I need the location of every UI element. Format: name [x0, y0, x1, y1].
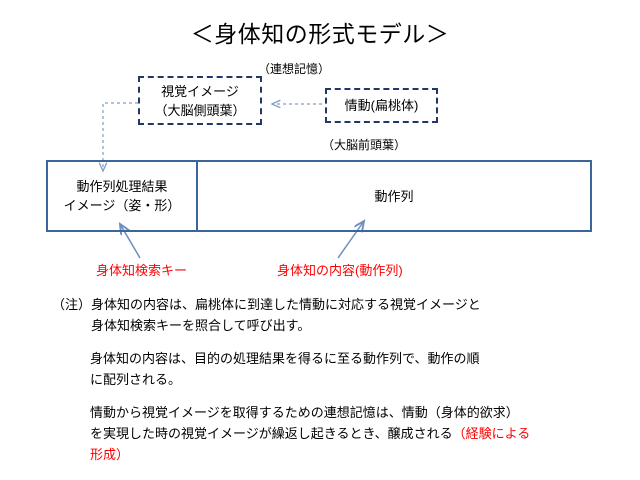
box-emotion-amygdala[interactable]: 情動(扁桃体)	[325, 88, 438, 123]
note-p3-line2-black: を実現した時の視覚イメージが繰返し起きるとき、醸成される	[90, 426, 453, 441]
note-p3-line1: 情動から視覚イメージを取得するための連想記憶は、情動（身体的欲求）	[90, 405, 519, 420]
annotation-content: 身体知の内容(動作列)	[277, 262, 403, 280]
body-knowledge-table: 動作列処理結果 イメージ（姿・形） 動作列	[46, 160, 592, 232]
note-p1-line1: 身体知の内容は、扁桃体に到達した情動に対応する視覚イメージと	[91, 297, 481, 312]
box-visual-image[interactable]: 視覚イメージ （大脳側頭葉）	[138, 76, 262, 125]
box-visual-image-line2: （大脳側頭葉）	[154, 101, 245, 120]
note-p3-line2-red: （経験による	[453, 426, 531, 441]
note-p2-line1: 身体知の内容は、目的の処理結果を得るに至る動作列で、動作の順	[90, 351, 479, 366]
note-paragraph-3: 情動から視覚イメージを取得するための連想記憶は、情動（身体的欲求） を実現した時…	[90, 402, 622, 465]
page-title: ＜身体知の形式モデル＞	[0, 20, 640, 48]
note-paragraph-1: （注） 身体知の内容は、扁桃体に到達した情動に対応する視覚イメージと 身体知検索…	[52, 294, 622, 336]
table-cell-search-key-line1: 動作列処理結果	[64, 177, 181, 196]
note-paragraph-2: 身体知の内容は、目的の処理結果を得るに至る動作列で、動作の順 に配列される。	[90, 348, 622, 390]
box-visual-image-line1: 視覚イメージ	[161, 82, 239, 101]
table-cell-search-key-line2: イメージ（姿・形）	[64, 196, 181, 215]
note-p2-line2: に配列される。	[90, 372, 181, 387]
notes-block: （注） 身体知の内容は、扁桃体に到達した情動に対応する視覚イメージと 身体知検索…	[52, 294, 622, 477]
annotation-search-key: 身体知検索キー	[96, 262, 187, 280]
caption-frontal-lobe: （大脳前頭葉）	[322, 137, 406, 153]
note-p3-line3-red: 形成）	[90, 447, 129, 462]
table-cell-motion-sequence-label: 動作列	[374, 187, 413, 206]
table-cell-search-key[interactable]: 動作列処理結果 イメージ（姿・形）	[48, 162, 198, 230]
table-cell-motion-sequence[interactable]: 動作列	[198, 162, 590, 230]
slide-canvas: ＜身体知の形式モデル＞ 視覚イメージ （大脳側頭葉）	[0, 0, 640, 480]
box-emotion-amygdala-label: 情動(扁桃体)	[345, 96, 419, 115]
note-paragraph-1-body: 身体知の内容は、扁桃体に到達した情動に対応する視覚イメージと 身体知検索キーを照…	[91, 294, 622, 336]
note-p1-line2: 身体知検索キーを照合して呼び出す。	[91, 318, 310, 333]
caption-associative-memory: （連想記憶）	[258, 61, 330, 77]
note-marker: （注）	[52, 294, 91, 336]
